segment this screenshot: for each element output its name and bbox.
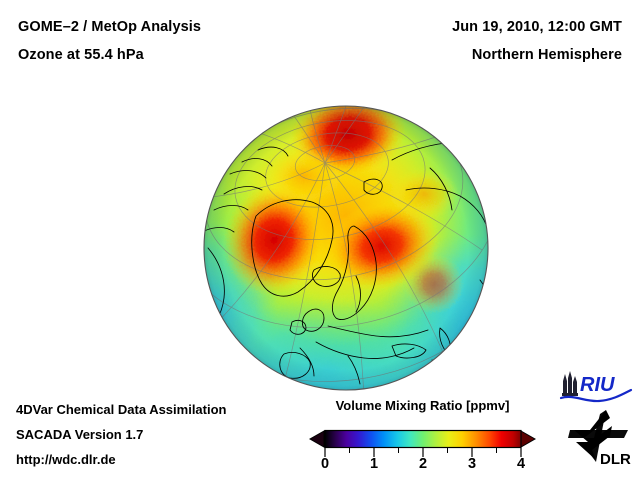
riu-logo: RIU xyxy=(559,369,633,403)
colorbar-max-arrow xyxy=(521,431,535,447)
url-label[interactable]: http://wdc.dlr.de xyxy=(16,452,116,467)
region-label: Northern Hemisphere xyxy=(472,47,622,63)
method-label: 4DVar Chemical Data Assimilation xyxy=(16,402,227,417)
globe-field xyxy=(196,98,496,398)
colorbar-tick-1: 1 xyxy=(370,456,378,469)
page-title: GOME–2 / MetOp Analysis xyxy=(18,19,201,35)
colorbar-tick-4: 4 xyxy=(517,456,525,469)
colorbar-tick-0: 0 xyxy=(321,456,329,469)
dlr-logo: DLR xyxy=(566,408,632,468)
globe-map xyxy=(196,98,496,398)
riu-wordmark: RIU xyxy=(580,374,615,396)
riu-tower-icon xyxy=(562,371,578,396)
colorbar: Volume Mixing Ratio [ppmv] xyxy=(300,398,545,470)
colorbar-title: Volume Mixing Ratio [ppmv] xyxy=(300,398,545,413)
colorbar-min-arrow xyxy=(310,431,324,447)
dlr-wordmark: DLR xyxy=(600,451,631,468)
timestamp-label: Jun 19, 2010, 12:00 GMT xyxy=(452,19,622,35)
colorbar-tick-2: 2 xyxy=(419,456,427,469)
colorbar-gradient xyxy=(325,431,521,448)
page-subtitle: Ozone at 55.4 hPa xyxy=(18,47,144,63)
colorbar-tick-3: 3 xyxy=(468,456,476,469)
version-label: SACADA Version 1.7 xyxy=(16,427,143,442)
